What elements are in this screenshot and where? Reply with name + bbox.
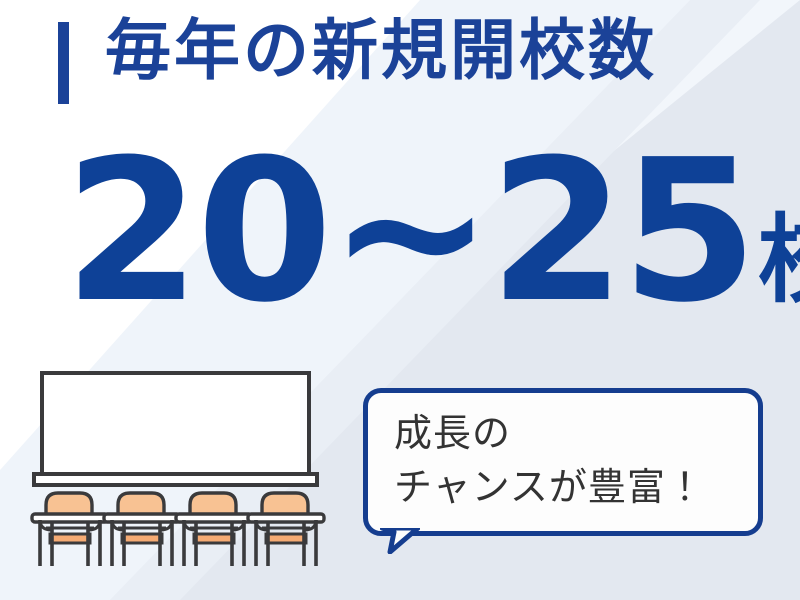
accent-bar — [58, 22, 69, 104]
desk-chair-unit — [248, 493, 324, 566]
speech-bubble-tail-icon — [380, 528, 420, 554]
stat-value: 20~25 — [64, 142, 754, 322]
stat-unit: 校 — [758, 212, 800, 322]
heading: 毎年の新規開校数 — [58, 18, 657, 104]
poster-root: 毎年の新規開校数 20~25 校 — [0, 0, 800, 600]
marker-icon — [243, 463, 259, 471]
classroom-illustration — [30, 362, 330, 572]
stat-figure: 20~25 校 — [64, 142, 800, 322]
desk-chair-unit — [104, 493, 180, 566]
speech-bubble-text: 成長の チャンスが豊富！ — [394, 407, 705, 515]
speech-bubble: 成長の チャンスが豊富！ — [363, 388, 763, 536]
desk-chair-unit — [32, 493, 108, 566]
eraser-icon — [263, 463, 279, 471]
page-title: 毎年の新規開校数 — [105, 18, 657, 84]
whiteboard-ledge-icon — [34, 474, 317, 485]
desk-chair-unit — [176, 493, 252, 566]
whiteboard-icon — [42, 373, 309, 476]
